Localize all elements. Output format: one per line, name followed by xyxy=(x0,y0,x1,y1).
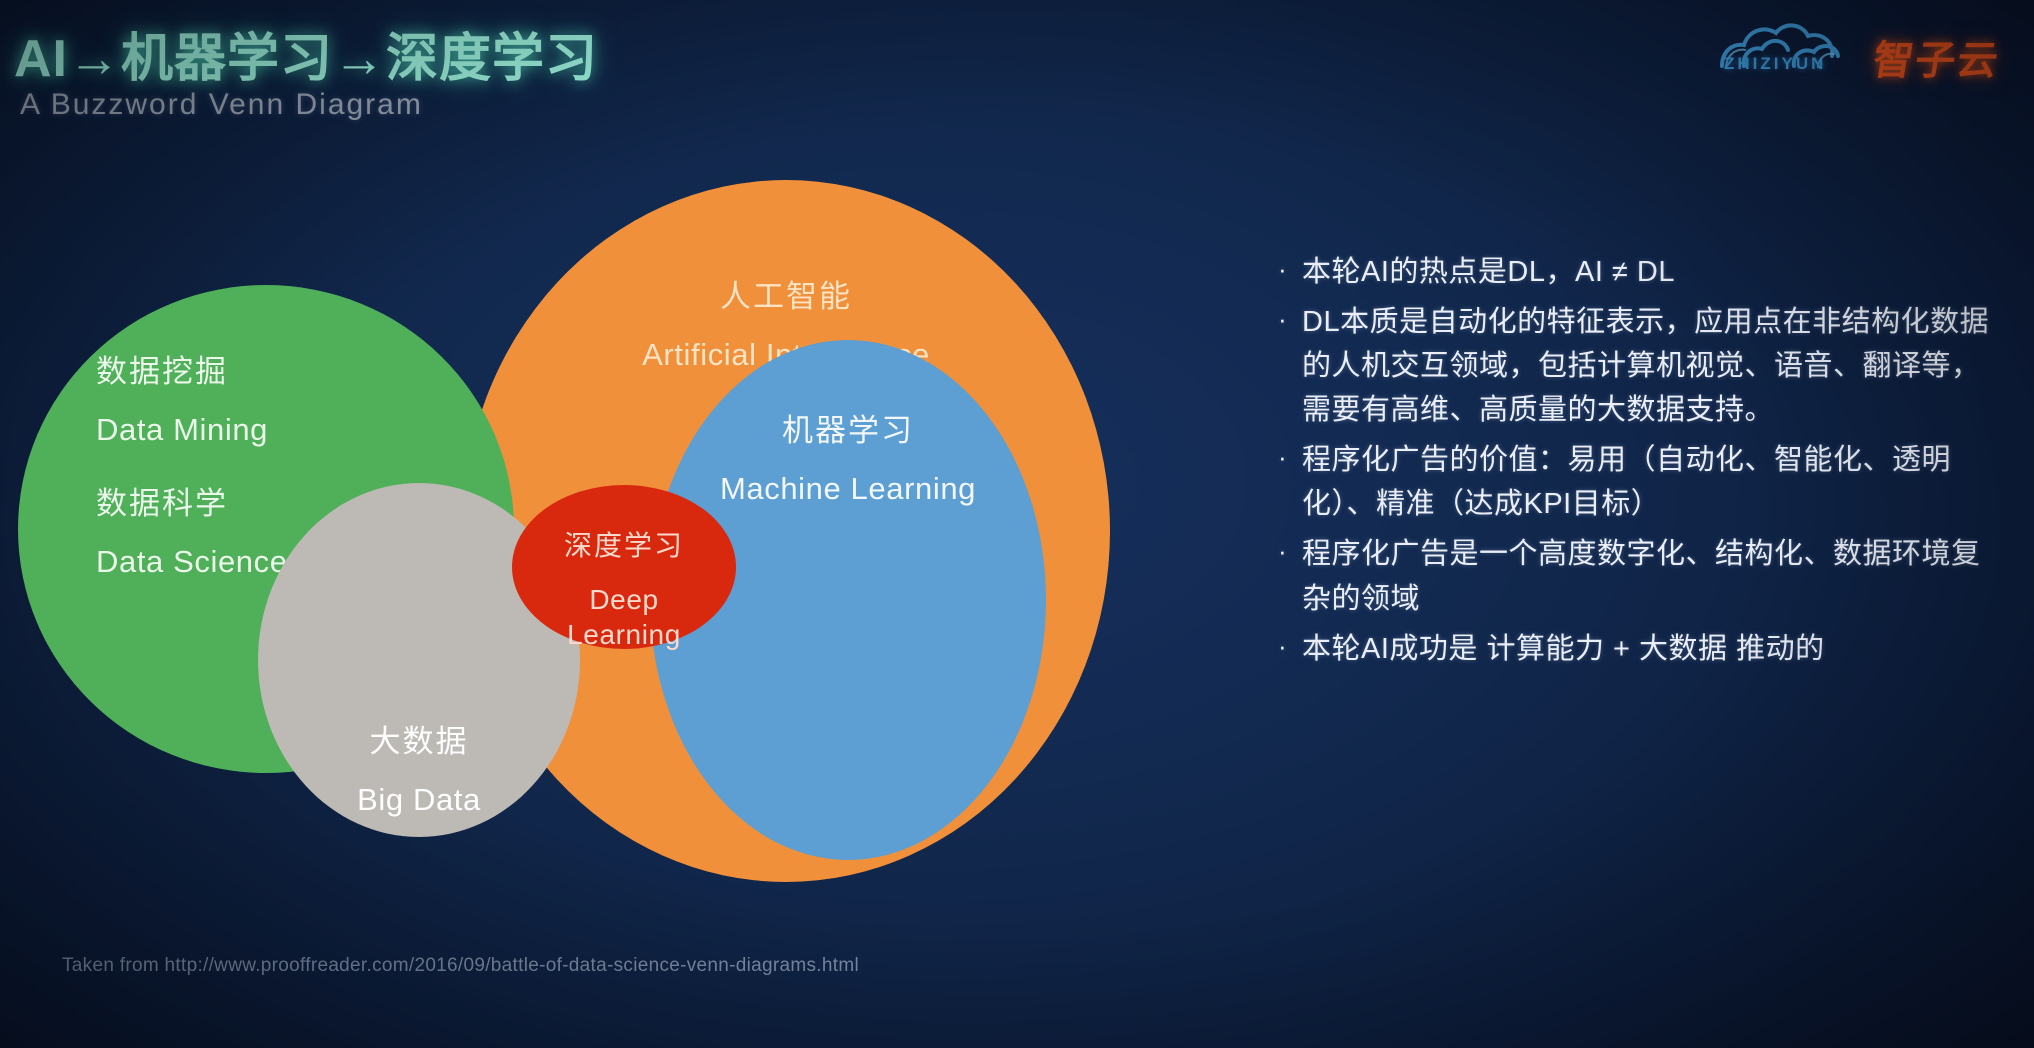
venn-label-data-mining: 数据挖掘 Data Mining xyxy=(96,333,268,469)
attribution-text: Taken from http://www.prooffreader.com/2… xyxy=(62,955,859,977)
bullet-item: ·本轮AI的热点是DL，AI ≠ DL xyxy=(1278,250,2008,294)
page-subtitle: A Buzzword Venn Diagram xyxy=(20,88,423,122)
bullet-marker-icon: · xyxy=(1278,250,1302,290)
venn-label-ml-cn: 机器学习 xyxy=(650,412,1046,450)
venn-label-big-data-en: Big Data xyxy=(258,781,580,819)
venn-label-dl-en: Deep Learning xyxy=(512,583,736,652)
bullet-item: ·程序化广告的价值：易用（自动化、智能化、透明化）、精准（达成KPI目标） xyxy=(1278,438,2008,526)
bullet-item: ·本轮AI成功是 计算能力 + 大数据 推动的 xyxy=(1278,627,2008,671)
bullet-marker-icon: · xyxy=(1278,532,1302,572)
logo-chinese-text: 智子云 xyxy=(1869,28,2004,86)
venn-diagram: 人工智能 Artificial Intelligence 数据挖掘 Data M… xyxy=(0,150,1250,1000)
bullet-text: DL本质是自动化的特征表示，应用点在非结构化数据的人机交互领域，包括计算机视觉、… xyxy=(1302,300,2008,432)
slide-canvas: AI→机器学习→深度学习 A Buzzword Venn Diagram ZHI… xyxy=(0,0,2034,1048)
bullet-marker-icon: · xyxy=(1278,300,1302,340)
page-title: AI→机器学习→深度学习 xyxy=(14,16,598,91)
bullet-item: ·DL本质是自动化的特征表示，应用点在非结构化数据的人机交互领域，包括计算机视觉… xyxy=(1278,300,2008,432)
logo-latin-text: ZHIZIYUN xyxy=(1724,54,1826,74)
venn-label-data-science-en: Data Science xyxy=(96,543,288,581)
venn-label-ml-en: Machine Learning xyxy=(650,470,1046,508)
bullet-marker-icon: · xyxy=(1278,438,1302,478)
bullet-text: 本轮AI的热点是DL，AI ≠ DL xyxy=(1302,250,2008,294)
bullet-text: 本轮AI成功是 计算能力 + 大数据 推动的 xyxy=(1302,627,2008,671)
bullet-text: 程序化广告是一个高度数字化、结构化、数据环境复杂的领域 xyxy=(1302,532,2008,620)
venn-label-dl-cn: 深度学习 xyxy=(512,529,736,564)
venn-label-big-data-cn: 大数据 xyxy=(258,723,580,761)
venn-label-machine-learning: 机器学习 Machine Learning xyxy=(650,392,1046,528)
venn-set-deep-learning: 深度学习 Deep Learning xyxy=(512,485,736,649)
bullet-list: ·本轮AI的热点是DL，AI ≠ DL·DL本质是自动化的特征表示，应用点在非结… xyxy=(1278,250,2008,677)
bullet-marker-icon: · xyxy=(1278,627,1302,667)
venn-label-data-mining-cn: 数据挖掘 xyxy=(96,353,268,391)
venn-label-data-science: 数据科学 Data Science xyxy=(96,465,288,601)
venn-label-ai-cn: 人工智能 xyxy=(462,278,1110,316)
venn-label-data-mining-en: Data Mining xyxy=(96,411,268,449)
bullet-text: 程序化广告的价值：易用（自动化、智能化、透明化）、精准（达成KPI目标） xyxy=(1302,438,2008,526)
bullet-item: ·程序化广告是一个高度数字化、结构化、数据环境复杂的领域 xyxy=(1278,532,2008,620)
brand-logo: ZHIZIYUN 智子云 xyxy=(1716,14,2016,88)
venn-label-big-data: 大数据 Big Data xyxy=(258,703,580,839)
venn-label-data-science-cn: 数据科学 xyxy=(96,485,288,523)
venn-label-deep-learning: 深度学习 Deep Learning xyxy=(512,509,736,673)
